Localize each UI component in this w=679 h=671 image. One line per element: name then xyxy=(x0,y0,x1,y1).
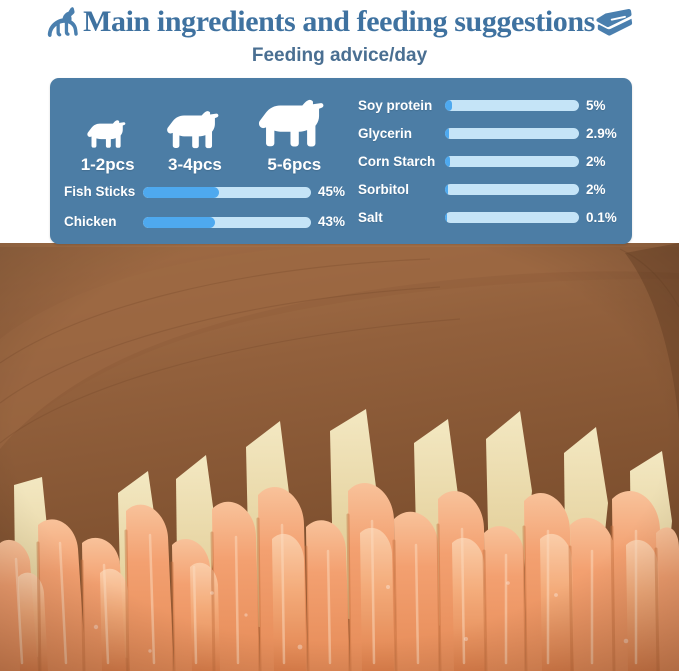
dog-medium-icon xyxy=(164,108,226,152)
ingredient-label-corn-starch: Corn Starch xyxy=(358,154,438,170)
feeding-item-medium: 3-4pcs xyxy=(164,108,226,175)
ingredient-row-fish-sticks: Fish Sticks 45% xyxy=(64,179,352,205)
ingredient-track-glycerin xyxy=(445,128,579,139)
ingredient-value-glycerin: 2.9% xyxy=(586,126,620,142)
feeding-item-small: 1-2pcs xyxy=(81,118,135,175)
ingredient-row-corn-starch: Corn Starch 2% xyxy=(358,149,620,174)
ingredient-fill-corn-starch xyxy=(445,156,450,167)
ingredient-fill-fish-sticks xyxy=(143,187,219,198)
subtitle: Feeding advice/day xyxy=(0,44,679,68)
header: Main ingredients and feeding suggestions… xyxy=(0,0,679,72)
panel-left-column: 1-2pcs 3-4pcs 5- xyxy=(64,87,352,236)
ingredient-label-soy-protein: Soy protein xyxy=(358,98,438,114)
feeding-suggestion-row: 1-2pcs 3-4pcs 5- xyxy=(64,87,352,175)
feeding-info-panel: 1-2pcs 3-4pcs 5- xyxy=(50,78,632,244)
feeding-item-large: 5-6pcs xyxy=(255,96,333,175)
dog-large-icon xyxy=(255,96,333,152)
sitting-dog-icon xyxy=(44,5,84,39)
ingredient-value-salt: 0.1% xyxy=(586,210,620,226)
title-row: Main ingredients and feeding suggestions xyxy=(0,0,679,42)
ingredient-label-salt: Salt xyxy=(358,210,438,226)
ingredient-fill-salt xyxy=(445,212,447,223)
ingredient-track-fish-sticks xyxy=(143,187,311,198)
ingredient-bars-left: Fish Sticks 45% Chicken 43% xyxy=(64,175,352,235)
ingredient-label-glycerin: Glycerin xyxy=(358,126,438,142)
product-photo xyxy=(0,243,679,671)
ingredient-row-salt: Salt 0.1% xyxy=(358,205,620,230)
ingredient-value-chicken: 43% xyxy=(318,214,352,230)
ingredient-fill-soy-protein xyxy=(445,100,452,111)
ingredient-row-soy-protein: Soy protein 5% xyxy=(358,93,620,118)
ingredient-bars-right: Soy protein 5% Glycerin 2.9% Corn Starch… xyxy=(352,87,620,236)
dog-small-icon xyxy=(85,118,131,152)
ingredient-fill-glycerin xyxy=(445,128,449,139)
ingredient-value-soy-protein: 5% xyxy=(586,98,620,114)
ingredient-track-salt xyxy=(445,212,579,223)
ingredient-track-sorbitol xyxy=(445,184,579,195)
page-title: Main ingredients and feeding suggestions xyxy=(83,4,595,40)
ingredient-track-chicken xyxy=(143,217,311,228)
ingredient-track-soy-protein xyxy=(445,100,579,111)
ingredient-label-chicken: Chicken xyxy=(64,214,136,230)
feeding-label-small: 1-2pcs xyxy=(81,155,135,175)
ingredient-value-fish-sticks: 45% xyxy=(318,184,352,200)
ingredient-label-sorbitol: Sorbitol xyxy=(358,182,438,198)
ingredient-row-chicken: Chicken 43% xyxy=(64,209,352,235)
feeding-label-large: 5-6pcs xyxy=(267,155,321,175)
ingredient-track-corn-starch xyxy=(445,156,579,167)
feeding-label-medium: 3-4pcs xyxy=(168,155,222,175)
ingredient-fill-sorbitol xyxy=(445,184,448,195)
ingredient-row-sorbitol: Sorbitol 2% xyxy=(358,177,620,202)
ingredient-label-fish-sticks: Fish Sticks xyxy=(64,184,136,200)
food-scoop-icon xyxy=(595,7,635,37)
ingredient-value-corn-starch: 2% xyxy=(586,154,620,170)
ingredient-fill-chicken xyxy=(143,217,215,228)
ingredient-row-glycerin: Glycerin 2.9% xyxy=(358,121,620,146)
ingredient-value-sorbitol: 2% xyxy=(586,182,620,198)
